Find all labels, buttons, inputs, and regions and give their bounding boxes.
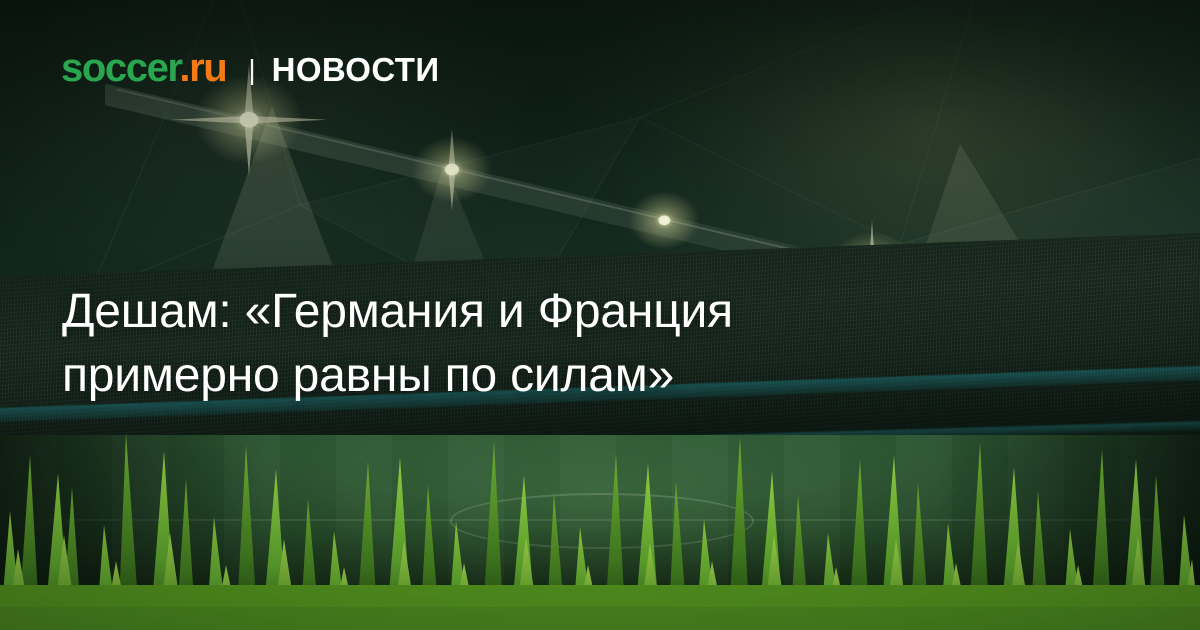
logo-word-soccer: soccer	[61, 46, 179, 90]
headline-line-1: Дешам: «Германия и Франция	[62, 280, 1022, 344]
site-logo[interactable]: soccer.ru	[61, 48, 226, 88]
section-label-news: НОВОСТИ	[272, 53, 440, 86]
brand-bar[interactable]: soccer.ru | НОВОСТИ	[61, 48, 439, 88]
logo-tld-ru: .ru	[179, 46, 226, 90]
headline: Дешам: «Германия и Франция примерно равн…	[62, 280, 1022, 408]
brand-separator: |	[248, 56, 255, 84]
headline-line-2: примерно равны по силам»	[62, 344, 1022, 408]
card-content: soccer.ru | НОВОСТИ Дешам: «Германия и Ф…	[0, 0, 1200, 630]
news-share-card: soccer.ru | НОВОСТИ Дешам: «Германия и Ф…	[0, 0, 1200, 630]
